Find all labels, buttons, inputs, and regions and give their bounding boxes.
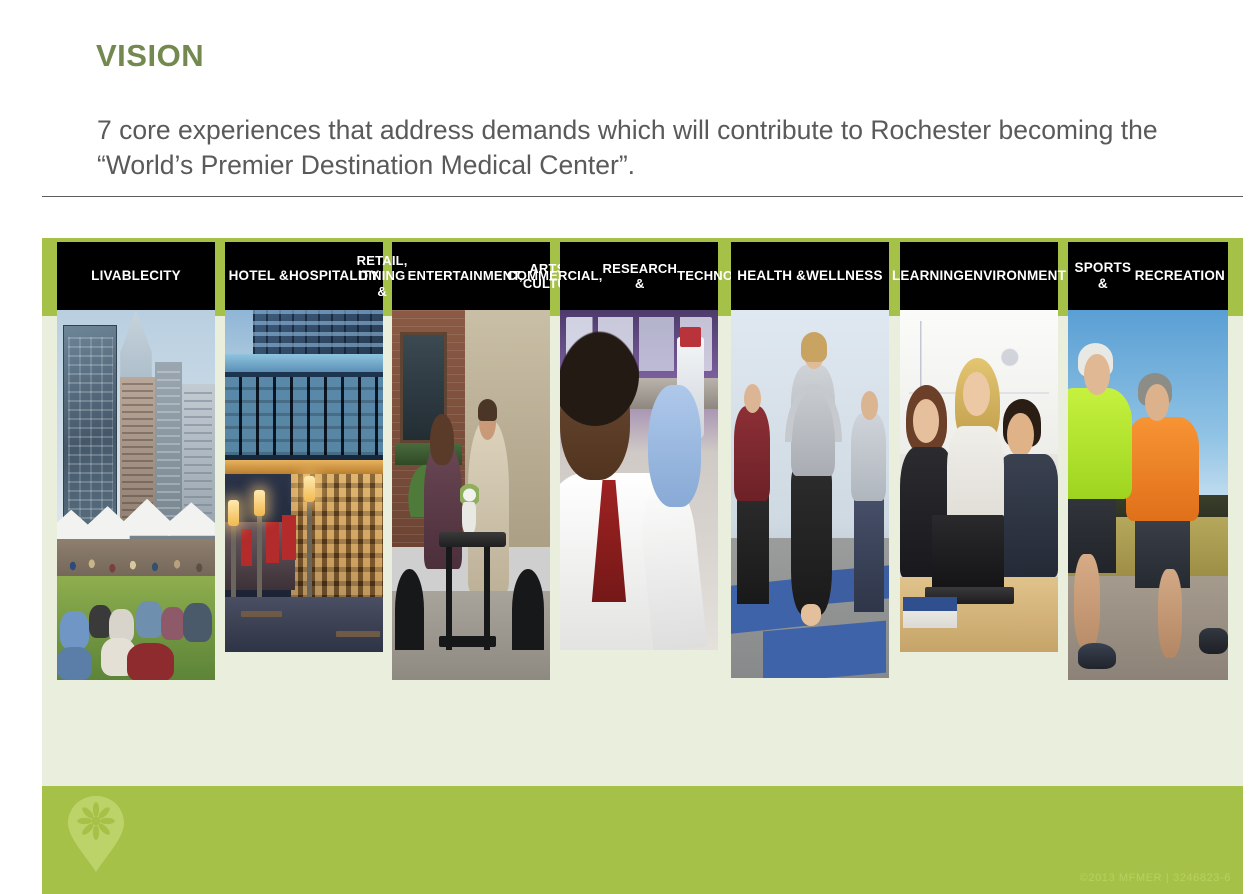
- column-photo-sports-recreation: [1068, 310, 1228, 680]
- column-photo-livable-city: [57, 310, 215, 680]
- column-title-line-1: COMMERCIAL,: [507, 268, 602, 284]
- column-header-sports-recreation: SPORTS & RECREATION: [1068, 242, 1228, 310]
- column-title-line-2: ENVIRONMENT: [964, 268, 1066, 284]
- column-photo-commercial-research: [560, 310, 718, 650]
- column-photo-health-wellness: [731, 310, 889, 678]
- experience-column-livable-city[interactable]: LIVABLE CITY: [57, 238, 215, 680]
- column-header-health-wellness: HEALTH & WELLNESS: [731, 242, 889, 310]
- column-header-livable-city: LIVABLE CITY: [57, 242, 215, 310]
- footer-copyright: ©2013 MFMER | 3246823-6: [1080, 872, 1231, 884]
- experience-column-hotel-hospitality[interactable]: HOTEL & HOSPITALITY: [225, 238, 383, 652]
- column-title-line-2: ENTERTAINMENT,: [408, 268, 523, 284]
- experience-column-learning-environment[interactable]: LEARNING ENVIRONMENT: [900, 238, 1058, 652]
- column-title-line-2: RECREATION: [1135, 268, 1225, 284]
- column-title-line-1: HEALTH &: [737, 268, 806, 284]
- column-title-line-1: LIVABLE: [91, 268, 149, 284]
- column-title-line-2: WELLNESS: [806, 268, 883, 284]
- column-title-line-1: LEARNING: [892, 268, 964, 284]
- experience-column-health-wellness[interactable]: HEALTH & WELLNESS: [731, 238, 889, 678]
- column-header-commercial-research: COMMERCIAL, RESEARCH & TECHNOLOGY: [560, 242, 718, 310]
- column-title-line-2: CITY: [149, 268, 181, 284]
- column-title-line-1: SPORTS &: [1071, 260, 1135, 292]
- column-title-line-2: RESEARCH &: [603, 261, 678, 292]
- column-photo-retail-dining: [392, 310, 550, 680]
- column-photo-learning-environment: [900, 310, 1058, 652]
- experiences-panel: LIVABLE CITY: [42, 238, 1243, 786]
- column-title-line-1: RETAIL, DINING &: [357, 253, 408, 300]
- footer-bar: ©2013 MFMER | 3246823-6: [42, 786, 1243, 894]
- title-divider: [42, 196, 1243, 197]
- column-header-learning-environment: LEARNING ENVIRONMENT: [900, 242, 1058, 310]
- slide-subtitle: 7 core experiences that address demands …: [97, 113, 1227, 183]
- mayo-clinic-pin-logo-icon: [66, 794, 126, 874]
- experience-column-retail-dining[interactable]: RETAIL, DINING & ENTERTAINMENT, ARTS & C…: [392, 238, 550, 680]
- experience-column-sports-recreation[interactable]: SPORTS & RECREATION: [1068, 238, 1228, 680]
- experience-column-commercial-research[interactable]: COMMERCIAL, RESEARCH & TECHNOLOGY: [560, 238, 718, 650]
- page-title: VISION: [96, 38, 204, 74]
- column-title-line-1: HOTEL &: [229, 268, 289, 284]
- column-photo-hotel-hospitality: [225, 310, 383, 652]
